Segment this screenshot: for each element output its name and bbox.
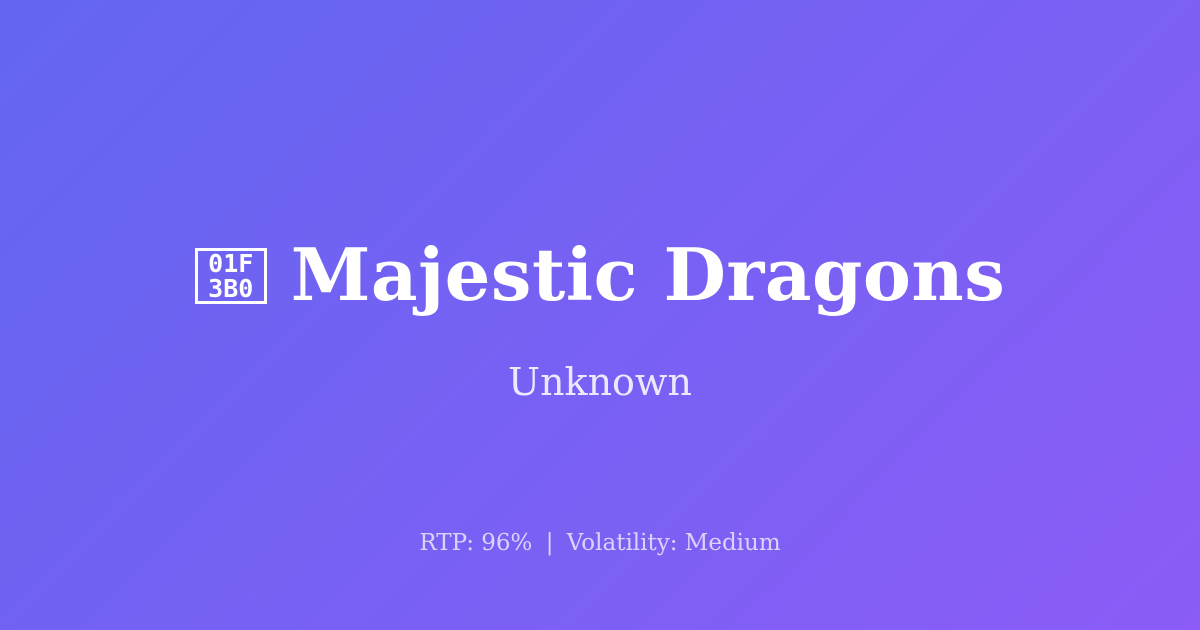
volatility-stat: Volatility: Medium	[567, 530, 781, 556]
title-row: 01F 3B0 Majestic Dragons	[195, 232, 1006, 318]
slot-machine-icon: 01F 3B0	[195, 248, 267, 304]
stats-separator: |	[540, 530, 560, 556]
game-og-card: 01F 3B0 Majestic Dragons Unknown RTP: 96…	[0, 0, 1200, 630]
slot-machine-icon-codepoint-bottom: 3B0	[208, 276, 253, 301]
game-title: Majestic Dragons	[291, 235, 1006, 315]
rtp-stat: RTP: 96%	[419, 530, 532, 556]
hero-block: 01F 3B0 Majestic Dragons Unknown	[0, 232, 1200, 404]
game-stats-line: RTP: 96% | Volatility: Medium	[0, 529, 1200, 557]
slot-machine-icon-codepoint-top: 01F	[208, 251, 253, 276]
game-provider: Unknown	[508, 360, 692, 404]
